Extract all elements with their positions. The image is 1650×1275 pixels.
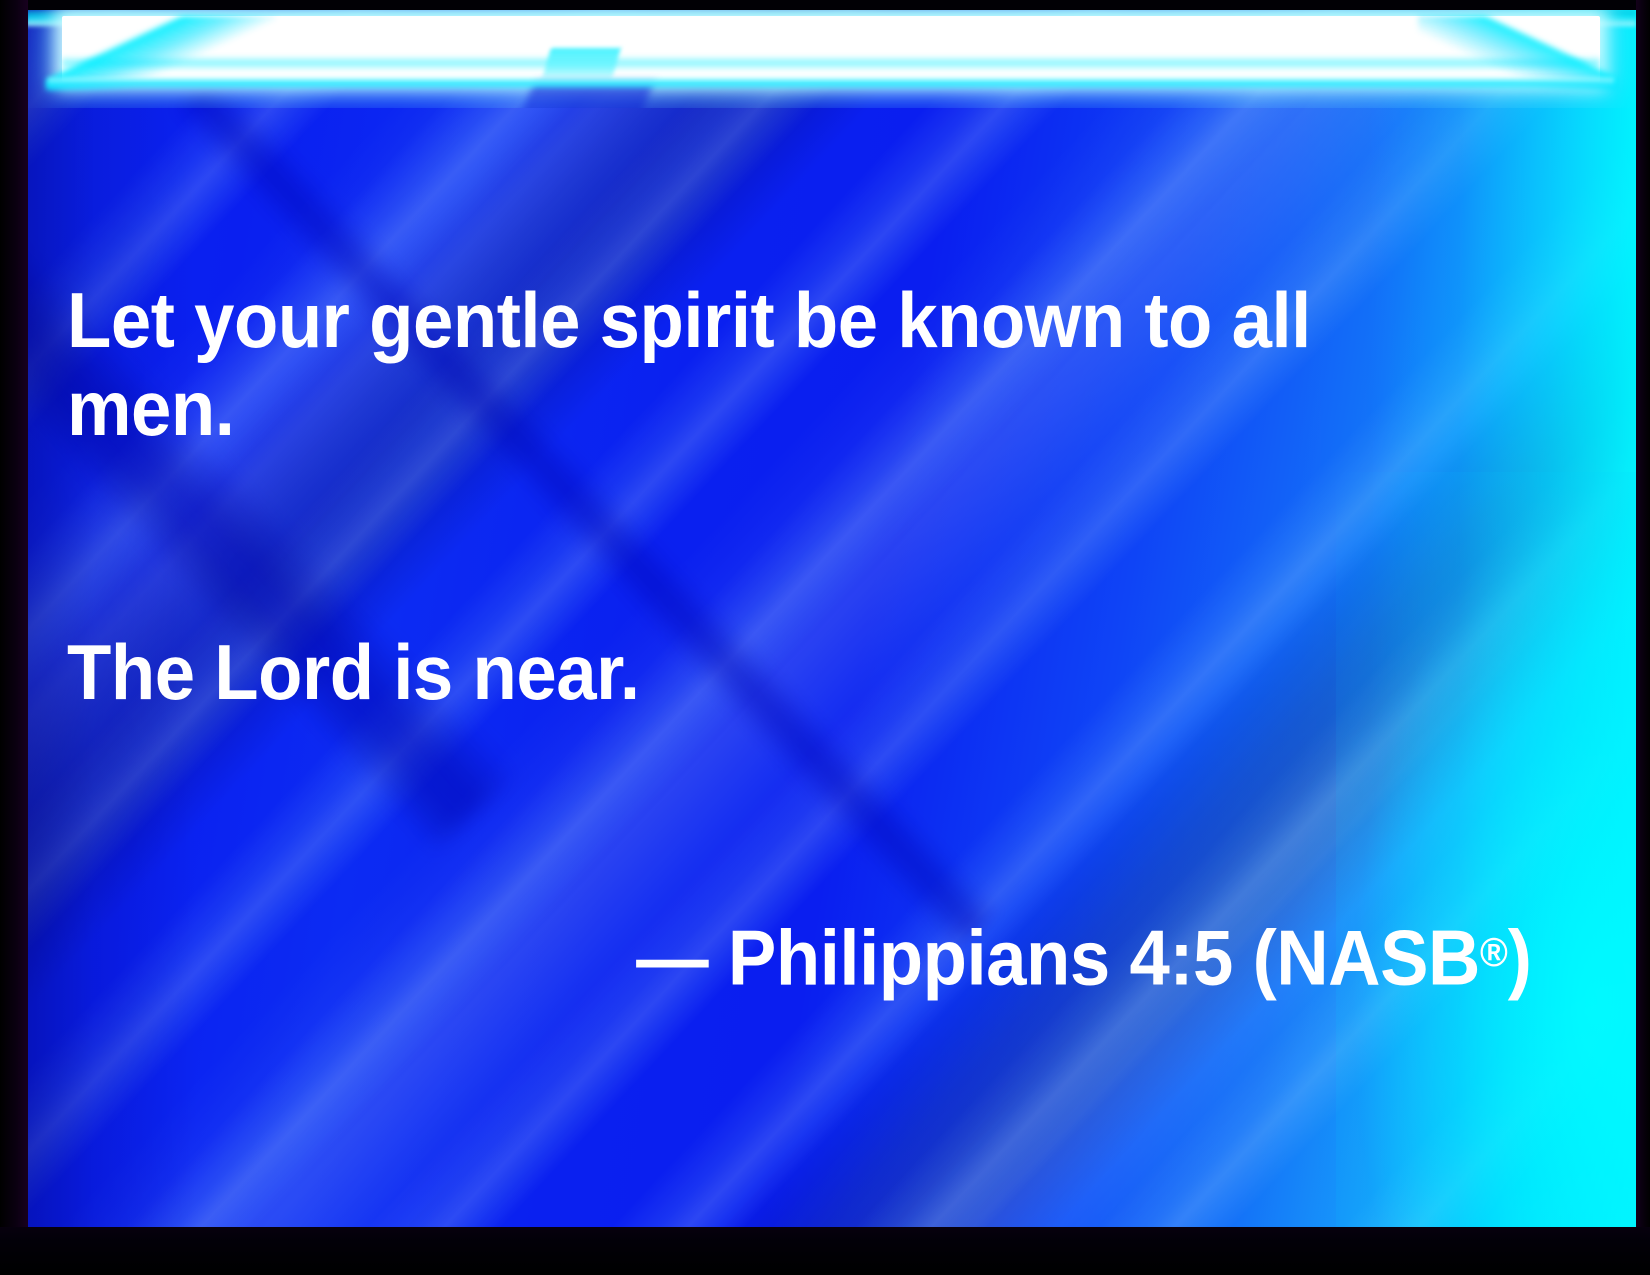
attribution-version-open: (NASB bbox=[1233, 914, 1480, 1002]
top-band-cyan-bump bbox=[541, 48, 621, 82]
top-band-white-core bbox=[62, 16, 1600, 82]
top-light-band bbox=[26, 8, 1636, 108]
verse-line-1: Let your gentle spirit be known to all m… bbox=[67, 276, 1481, 452]
attribution-em-dash: — bbox=[636, 914, 728, 1002]
verse-attribution: — Philippians 4:5 (NASB®) bbox=[67, 908, 1481, 1002]
frame-border-bottom bbox=[0, 1227, 1650, 1275]
verse-slide: Let your gentle spirit be known to all m… bbox=[0, 0, 1650, 1275]
attribution-book: Philippians bbox=[728, 914, 1110, 1002]
verse-text-block: Let your gentle spirit be known to all m… bbox=[67, 100, 1587, 1178]
registered-trademark-icon: ® bbox=[1480, 929, 1508, 975]
frame-border-right bbox=[1636, 0, 1650, 1275]
attribution-reference: 4:5 bbox=[1129, 914, 1232, 1002]
attribution-close-paren: ) bbox=[1508, 914, 1532, 1002]
attribution-space bbox=[1110, 914, 1130, 1002]
verse-line-2: The Lord is near. bbox=[67, 628, 1481, 716]
top-band-cyan-underline bbox=[48, 78, 1614, 90]
frame-border-left bbox=[0, 0, 28, 1275]
